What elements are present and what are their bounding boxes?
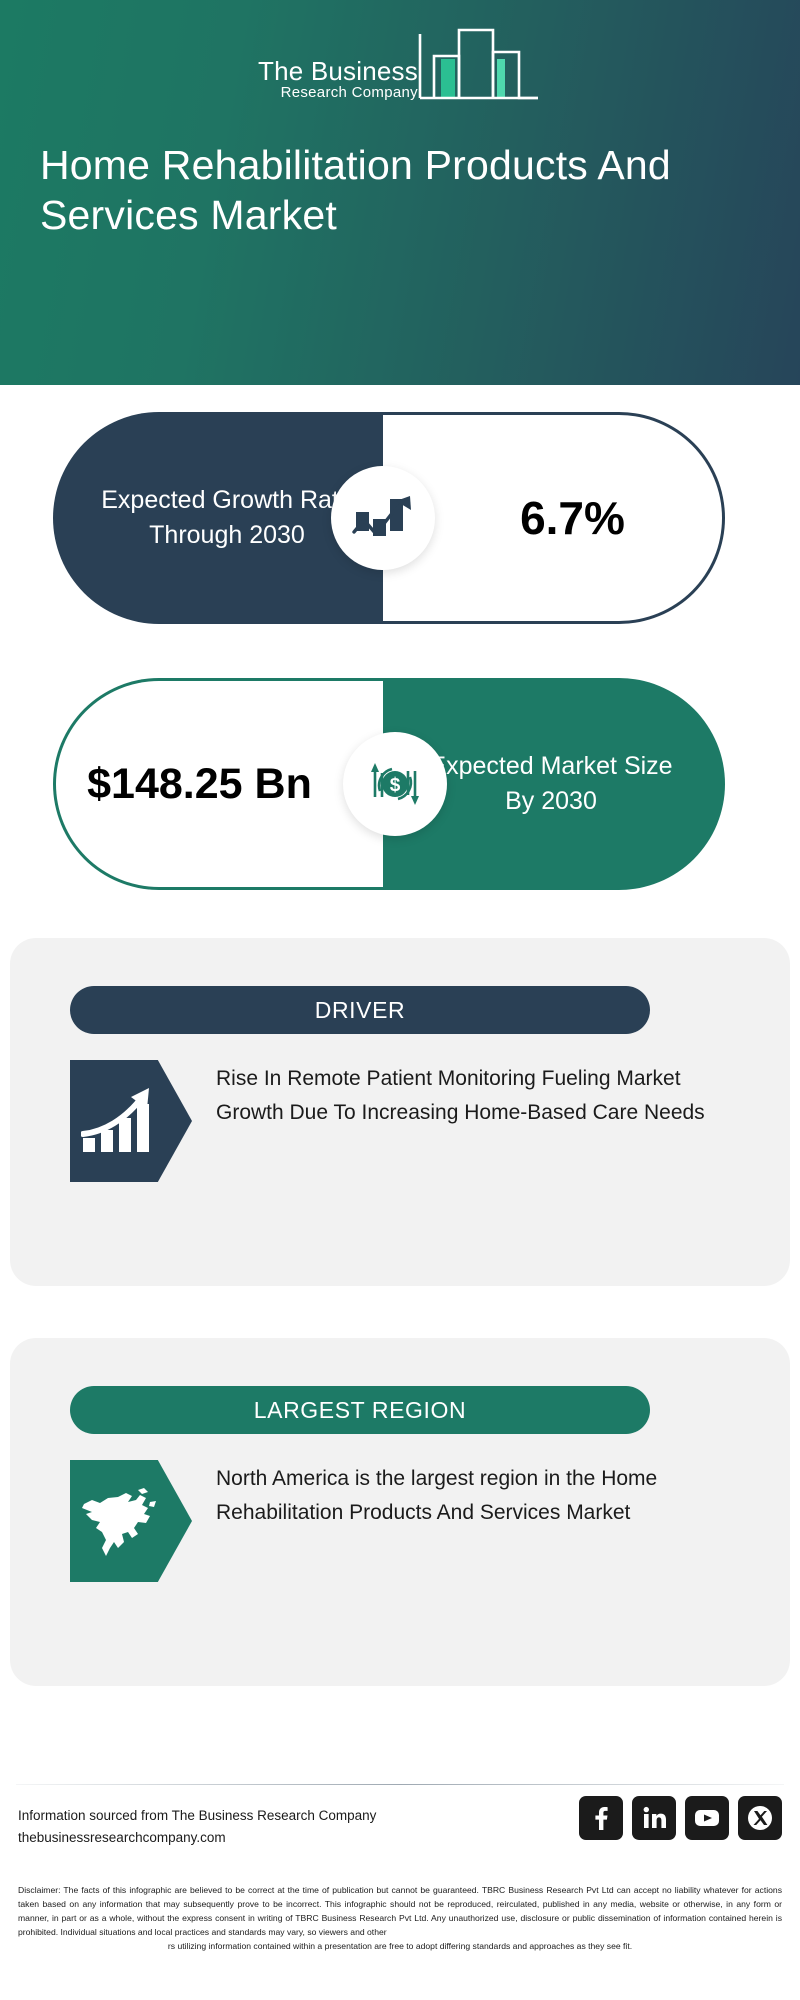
footer-source-line-2[interactable]: thebusinessresearchcompany.com [18,1827,488,1849]
dollar-cycle-icon: $ [343,732,447,836]
footer-source-line-1: Information sourced from The Business Re… [18,1805,488,1827]
bar-chart-logo-mark [416,26,542,109]
infographic-page: The Business Research Company [0,0,800,2000]
growth-rate-label: Expected Growth Rate Through 2030 [93,483,361,554]
growth-chart-arrow-icon [331,466,435,570]
header-banner: The Business Research Company [0,0,800,385]
disclaimer-main: Disclaimer: The facts of this infographi… [18,1885,782,1937]
footer-source: Information sourced from The Business Re… [18,1805,488,1850]
growth-bars-arrow-icon [70,1060,192,1182]
largest-region-pill: LARGEST REGION [70,1386,650,1434]
youtube-icon[interactable] [685,1796,729,1840]
largest-region-body: North America is the largest region in t… [70,1460,730,1582]
driver-body: Rise In Remote Patient Monitoring Fuelin… [70,1060,730,1182]
market-size-value: $148.25 Bn [87,759,312,810]
linkedin-icon[interactable] [632,1796,676,1840]
x-twitter-icon[interactable] [738,1796,782,1840]
north-america-map-icon [70,1460,192,1582]
disclaimer-text: Disclaimer: The facts of this infographi… [18,1884,782,1954]
driver-pill: DRIVER [70,986,650,1034]
growth-rate-value: 6.7% [520,491,625,545]
page-title: Home Rehabilitation Products And Service… [40,140,760,240]
footer-divider [16,1784,784,1785]
logo-line-2: Research Company [281,85,418,101]
page-title-text: Home Rehabilitation Products And Service… [40,140,760,240]
driver-panel: DRIVER Rise In Remote Patient Monitoring… [10,938,790,1286]
largest-region-text: North America is the largest region in t… [216,1460,730,1530]
driver-text: Rise In Remote Patient Monitoring Fuelin… [216,1060,730,1130]
disclaimer-last-line: rs utilizing information contained withi… [18,1940,782,1954]
social-links [579,1796,782,1840]
market-size-card: $148.25 Bn Expected Market Size By 2030 … [53,678,725,890]
growth-rate-card: Expected Growth Rate Through 2030 6.7% [53,412,725,624]
largest-region-pill-label: LARGEST REGION [254,1397,466,1424]
market-size-label: Expected Market Size By 2030 [417,749,685,820]
logo-line-1: The Business [258,58,418,85]
largest-region-panel: LARGEST REGION North America is the larg… [10,1338,790,1686]
driver-pill-label: DRIVER [315,997,406,1024]
brand-logo: The Business Research Company [0,26,800,109]
market-size-value-side: $148.25 Bn [53,678,383,890]
svg-text:$: $ [390,775,401,796]
facebook-icon[interactable] [579,1796,623,1840]
